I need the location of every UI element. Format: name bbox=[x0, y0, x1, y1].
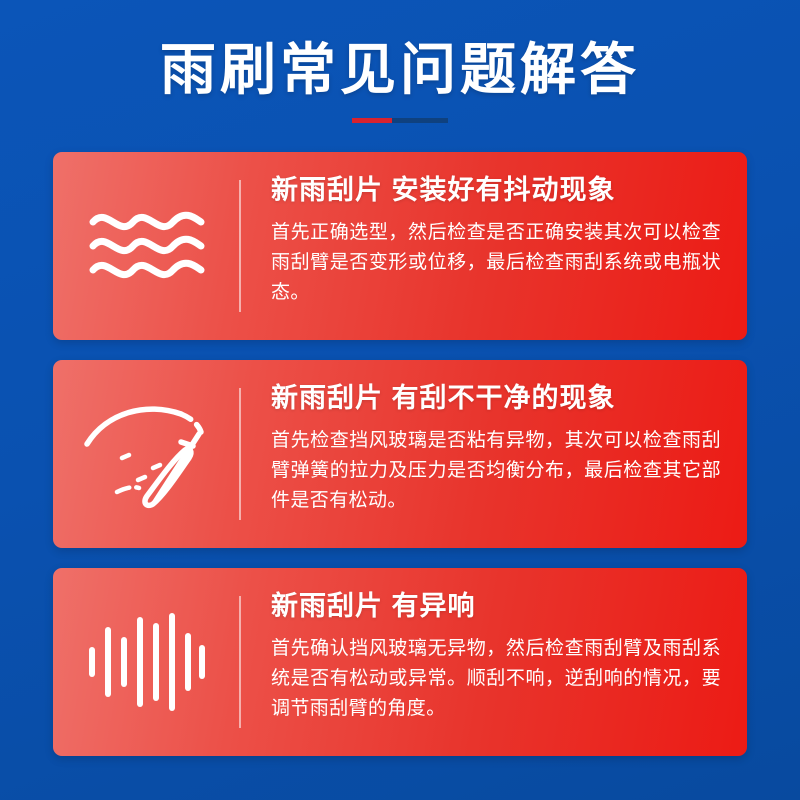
page-root: 雨刷常见问题解答 新雨刮片 安装好有抖动现象 首先正确选型， bbox=[0, 0, 800, 800]
wiper-sweep-icon bbox=[81, 398, 213, 510]
wavy-lines-icon bbox=[87, 204, 207, 288]
faq-card-list: 新雨刮片 安装好有抖动现象 首先正确选型，然后检查是否正确安装其次可以检查雨刮臂… bbox=[53, 152, 747, 756]
header: 雨刷常见问题解答 bbox=[0, 0, 800, 123]
sound-wave-icon bbox=[86, 610, 208, 714]
card-body: 新雨刮片 有异响 首先确认挡风玻璃无异物，然后检查雨刮臂及雨刮系统是否有松动或异… bbox=[241, 568, 747, 756]
faq-card[interactable]: 新雨刮片 有异响 首先确认挡风玻璃无异物，然后检查雨刮臂及雨刮系统是否有松动或异… bbox=[53, 568, 747, 756]
card-body: 新雨刮片 安装好有抖动现象 首先正确选型，然后检查是否正确安装其次可以检查雨刮臂… bbox=[241, 152, 747, 340]
card-icon-area bbox=[53, 152, 241, 340]
card-title: 新雨刮片 有刮不干净的现象 bbox=[271, 382, 721, 414]
card-vertical-divider bbox=[239, 388, 241, 520]
card-vertical-divider bbox=[239, 596, 241, 728]
card-title: 新雨刮片 安装好有抖动现象 bbox=[271, 174, 721, 206]
card-body: 新雨刮片 有刮不干净的现象 首先检查挡风玻璃是否粘有异物，其次可以检查雨刮臂弹簧… bbox=[241, 360, 747, 548]
card-text: 首先正确选型，然后检查是否正确安装其次可以检查雨刮臂是否变形或位移，最后检查雨刮… bbox=[271, 218, 721, 308]
card-icon-area bbox=[53, 568, 241, 756]
card-text: 首先确认挡风玻璃无异物，然后检查雨刮臂及雨刮系统是否有松动或异常。顺刮不响，逆刮… bbox=[271, 634, 721, 724]
page-title: 雨刷常见问题解答 bbox=[0, 38, 800, 102]
faq-card[interactable]: 新雨刮片 有刮不干净的现象 首先检查挡风玻璃是否粘有异物，其次可以检查雨刮臂弹簧… bbox=[53, 360, 747, 548]
title-divider bbox=[352, 118, 448, 123]
faq-card[interactable]: 新雨刮片 安装好有抖动现象 首先正确选型，然后检查是否正确安装其次可以检查雨刮臂… bbox=[53, 152, 747, 340]
card-text: 首先检查挡风玻璃是否粘有异物，其次可以检查雨刮臂弹簧的拉力及压力是否均衡分布，最… bbox=[271, 426, 721, 516]
card-icon-area bbox=[53, 360, 241, 548]
title-divider-blue-segment bbox=[392, 118, 448, 123]
card-vertical-divider bbox=[239, 180, 241, 312]
title-divider-red-segment bbox=[352, 118, 392, 123]
card-title: 新雨刮片 有异响 bbox=[271, 590, 721, 622]
